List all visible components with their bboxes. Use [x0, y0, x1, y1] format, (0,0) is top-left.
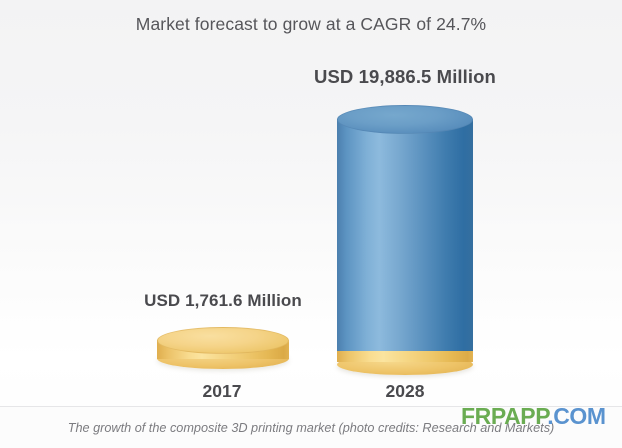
bar-2028-top-ellipse [337, 105, 473, 134]
value-label-2017: USD 1,761.6 Million [103, 291, 343, 311]
chart-canvas: Market forecast to grow at a CAGR of 24.… [0, 0, 622, 448]
watermark-name: FRPAPP [461, 403, 547, 429]
bar-2017-top-ellipse [157, 327, 289, 354]
value-label-2028: USD 19,886.5 Million [285, 66, 525, 88]
watermark-tld: .COM [547, 403, 605, 429]
chart-title: Market forecast to grow at a CAGR of 24.… [0, 14, 622, 35]
bar-2017 [157, 327, 289, 369]
bar-2028-body [337, 119, 473, 351]
bar-2028 [337, 105, 473, 368]
axis-label-2017: 2017 [122, 381, 322, 402]
axis-label-2028: 2028 [305, 381, 505, 402]
site-watermark: FRPAPP.COM [461, 405, 606, 428]
